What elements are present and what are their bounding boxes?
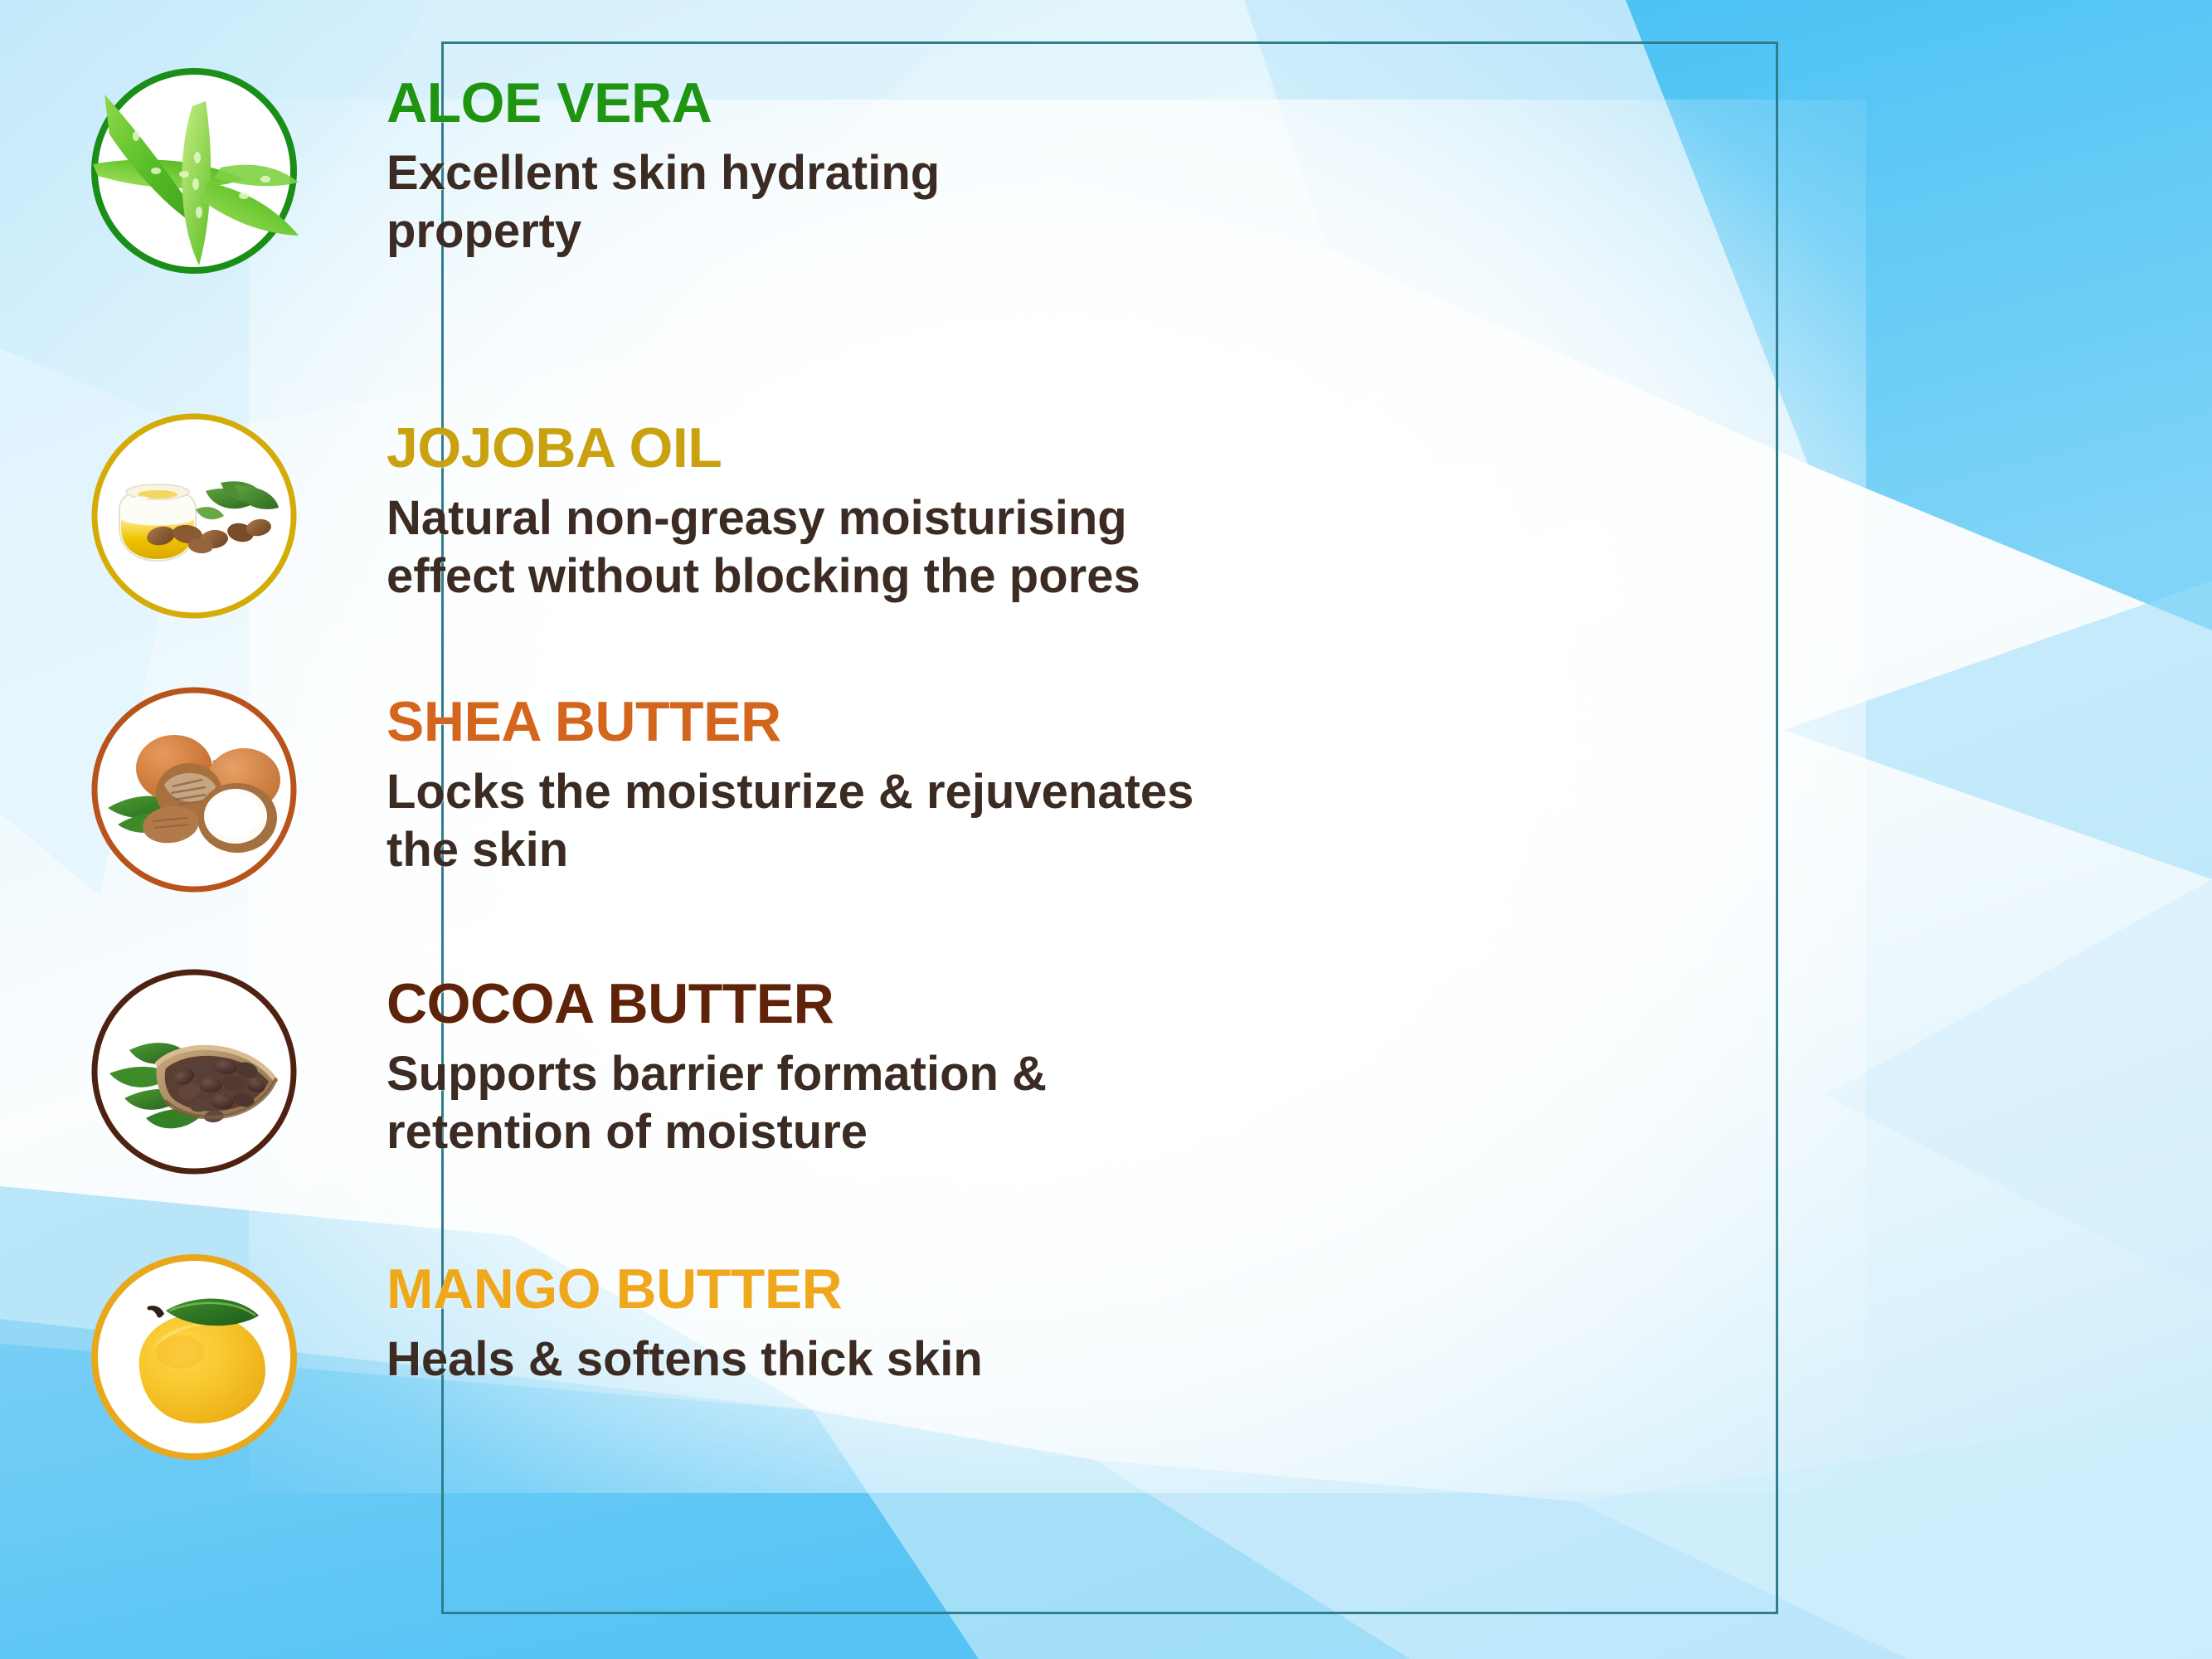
aloe-vera-copy: ALOE VERA Excellent skin hydrating prope… [386,58,940,260]
jojoba-oil-icon [81,403,307,629]
desc-line: retention of moisture [386,1103,1047,1161]
ingredient-description: Excellent skin hydrating property [386,144,940,260]
aloe-vera-icon [81,58,307,284]
desc-line: Excellent skin hydrating [386,144,940,202]
desc-line: property [386,202,940,260]
desc-line: Supports barrier formation & [386,1045,1047,1103]
mango-butter-icon [81,1244,307,1470]
ingredient-row-jojoba-oil: JOJOBA OIL Natural non-greasy moisturisi… [0,403,2212,629]
ingredient-description: Supports barrier formation & retention o… [386,1045,1047,1161]
desc-line: the skin [386,821,1194,879]
ingredient-description: Natural non-greasy moisturising effect w… [386,489,1140,606]
ingredient-title: COCOA BUTTER [386,975,1047,1032]
ingredient-row-shea-butter: SHEA BUTTER Locks the moisturize & rejuv… [0,677,2212,902]
mango-butter-copy: MANGO BUTTER Heals & softens thick skin [386,1244,983,1389]
ingredient-description: Locks the moisturize & rejuvenates the s… [386,763,1194,879]
desc-line: effect without blocking the pores [386,547,1140,606]
shea-butter-copy: SHEA BUTTER Locks the moisturize & rejuv… [386,677,1194,879]
desc-line: Heals & softens thick skin [386,1331,983,1389]
ingredient-row-cocoa-butter: COCOA BUTTER Supports barrier formation … [0,959,2212,1185]
ingredient-title: MANGO BUTTER [386,1261,983,1317]
cocoa-butter-copy: COCOA BUTTER Supports barrier formation … [386,959,1047,1161]
ingredient-title: JOJOBA OIL [386,420,1140,476]
ingredient-title: SHEA BUTTER [386,693,1194,750]
ingredient-title: ALOE VERA [386,75,940,131]
ingredient-row-mango-butter: MANGO BUTTER Heals & softens thick skin [0,1244,2212,1470]
shea-butter-icon [81,677,307,902]
jojoba-oil-copy: JOJOBA OIL Natural non-greasy moisturisi… [386,403,1140,606]
ingredient-description: Heals & softens thick skin [386,1331,983,1389]
ingredient-row-aloe-vera: ALOE VERA Excellent skin hydrating prope… [0,58,2212,284]
infographic-poster: ALOE VERA Excellent skin hydrating prope… [0,0,2212,1659]
cocoa-butter-icon [81,959,307,1185]
desc-line: Natural non-greasy moisturising [386,489,1140,547]
desc-line: Locks the moisturize & rejuvenates [386,763,1194,821]
